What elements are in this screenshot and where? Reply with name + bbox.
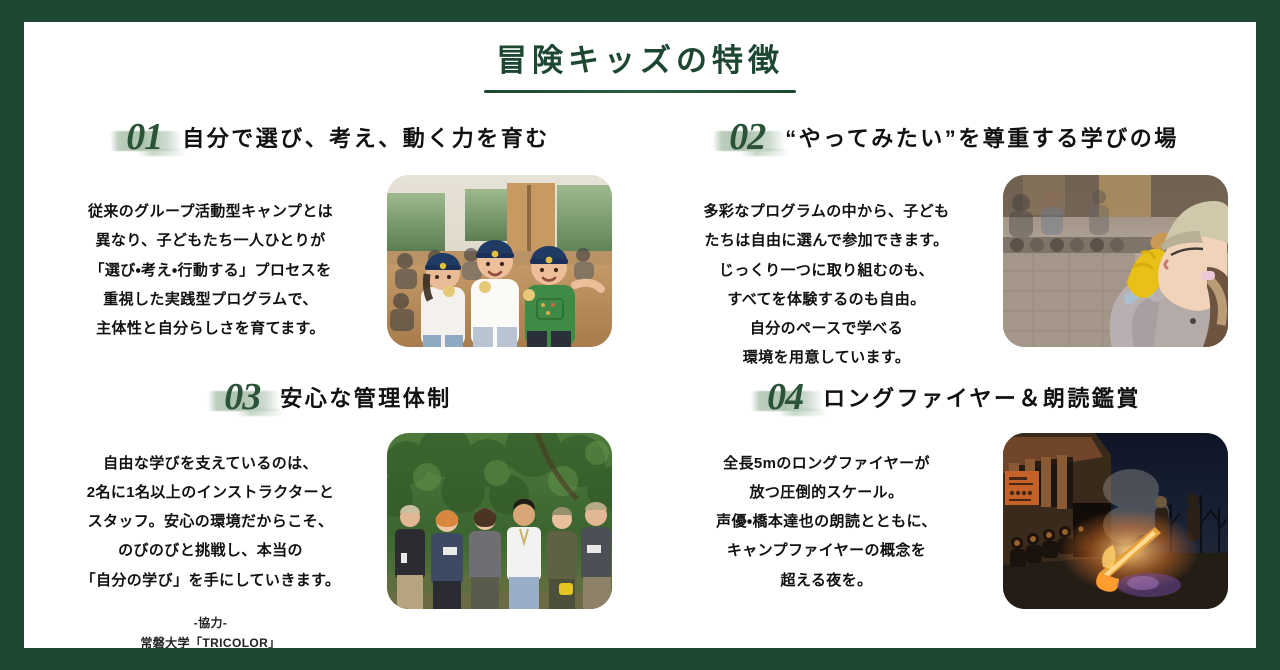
feature-number-badge-02: 02 (723, 115, 771, 159)
features-grid: 01 自分で選び、考え、動く力を育む 従来のグループ活動型キャンプとは異なり、子… (24, 111, 1256, 648)
feature-heading-01: 01 自分で選び、考え、動く力を育む (36, 111, 628, 163)
feature-text-col-03: 自由な学びを支えているのは、2名に1名以上のインストラクターとスタッフ。安心の環… (53, 433, 369, 648)
feature-number-03: 03 (224, 376, 260, 418)
feature-number-badge-01: 01 (120, 115, 168, 159)
feature-number-01: 01 (126, 116, 162, 158)
feature-text-col-02: 多彩なプログラムの中から、子どもたちは自由に選んで参加できます。じっくり一つに取… (669, 175, 985, 373)
feature-text-03: 自由な学びを支えているのは、2名に1名以上のインストラクターとスタッフ。安心の環… (53, 449, 369, 595)
feature-text-01: 従来のグループ活動型キャンプとは異なり、子どもたち一人ひとりが「選び・考え・行動… (53, 197, 369, 343)
feature-title-03: 安心な管理体制 (280, 381, 452, 413)
feature-number-badge-04: 04 (761, 375, 809, 419)
feature-photo-02 (1003, 175, 1228, 347)
feature-heading-03: 03 安心な管理体制 (36, 373, 628, 421)
feature-heading-02: 02 “やってみたい”を尊重する学びの場 (652, 111, 1244, 163)
feature-body-01: 従来のグループ活動型キャンプとは異なり、子どもたち一人ひとりが「選び・考え・行動… (36, 175, 628, 347)
page-title: 冒険キッズの特徴 (24, 42, 1256, 79)
feature-number-badge-03: 03 (218, 375, 266, 419)
feature-number-04: 04 (767, 376, 803, 418)
feature-photo-04 (1003, 433, 1228, 609)
feature-card-02: 02 “やってみたい”を尊重する学びの場 多彩なプログラムの中から、子どもたちは… (640, 111, 1256, 373)
feature-text-04: 全長5mのロングファイヤーが放つ圧倒的スケール。声優・橋本達也の朗読とともに、キ… (669, 449, 985, 595)
title-underline (484, 90, 796, 93)
feature-text-02: 多彩なプログラムの中から、子どもたちは自由に選んで参加できます。じっくり一つに取… (669, 197, 985, 373)
feature-card-03: 03 安心な管理体制 自由な学びを支えているのは、2名に1名以上のインストラクタ… (24, 373, 640, 648)
feature-text-col-01: 従来のグループ活動型キャンプとは異なり、子どもたち一人ひとりが「選び・考え・行動… (53, 175, 369, 343)
feature-title-01: 自分で選び、考え、動く力を育む (182, 121, 550, 153)
page-content: 冒険キッズの特徴 01 自分で選び、考え、動く力を育む 従来のグループ活動型キャ… (24, 22, 1256, 648)
feature-title-04: ロングファイヤー＆朗読鑑賞 (823, 381, 1141, 413)
feature-number-02: 02 (729, 116, 765, 158)
feature-title-02: “やってみたい”を尊重する学びの場 (785, 121, 1178, 153)
feature-photo-03 (387, 433, 612, 609)
page-frame: 冒険キッズの特徴 01 自分で選び、考え、動く力を育む 従来のグループ活動型キャ… (0, 0, 1280, 670)
feature-card-01: 01 自分で選び、考え、動く力を育む 従来のグループ活動型キャンプとは異なり、子… (24, 111, 640, 373)
feature-body-03: 自由な学びを支えているのは、2名に1名以上のインストラクターとスタッフ。安心の環… (36, 433, 628, 648)
feature-credit-03: -協力-常磐大学「TRICOLOR」 (53, 613, 369, 648)
feature-text-col-04: 全長5mのロングファイヤーが放つ圧倒的スケール。声優・橋本達也の朗読とともに、キ… (669, 433, 985, 595)
feature-body-04: 全長5mのロングファイヤーが放つ圧倒的スケール。声優・橋本達也の朗読とともに、キ… (652, 433, 1244, 609)
feature-card-04: 04 ロングファイヤー＆朗読鑑賞 全長5mのロングファイヤーが放つ圧倒的スケール… (640, 373, 1256, 648)
feature-photo-01 (387, 175, 612, 347)
feature-heading-04: 04 ロングファイヤー＆朗読鑑賞 (652, 373, 1244, 421)
feature-body-02: 多彩なプログラムの中から、子どもたちは自由に選んで参加できます。じっくり一つに取… (652, 175, 1244, 373)
title-block: 冒険キッズの特徴 (24, 22, 1256, 93)
